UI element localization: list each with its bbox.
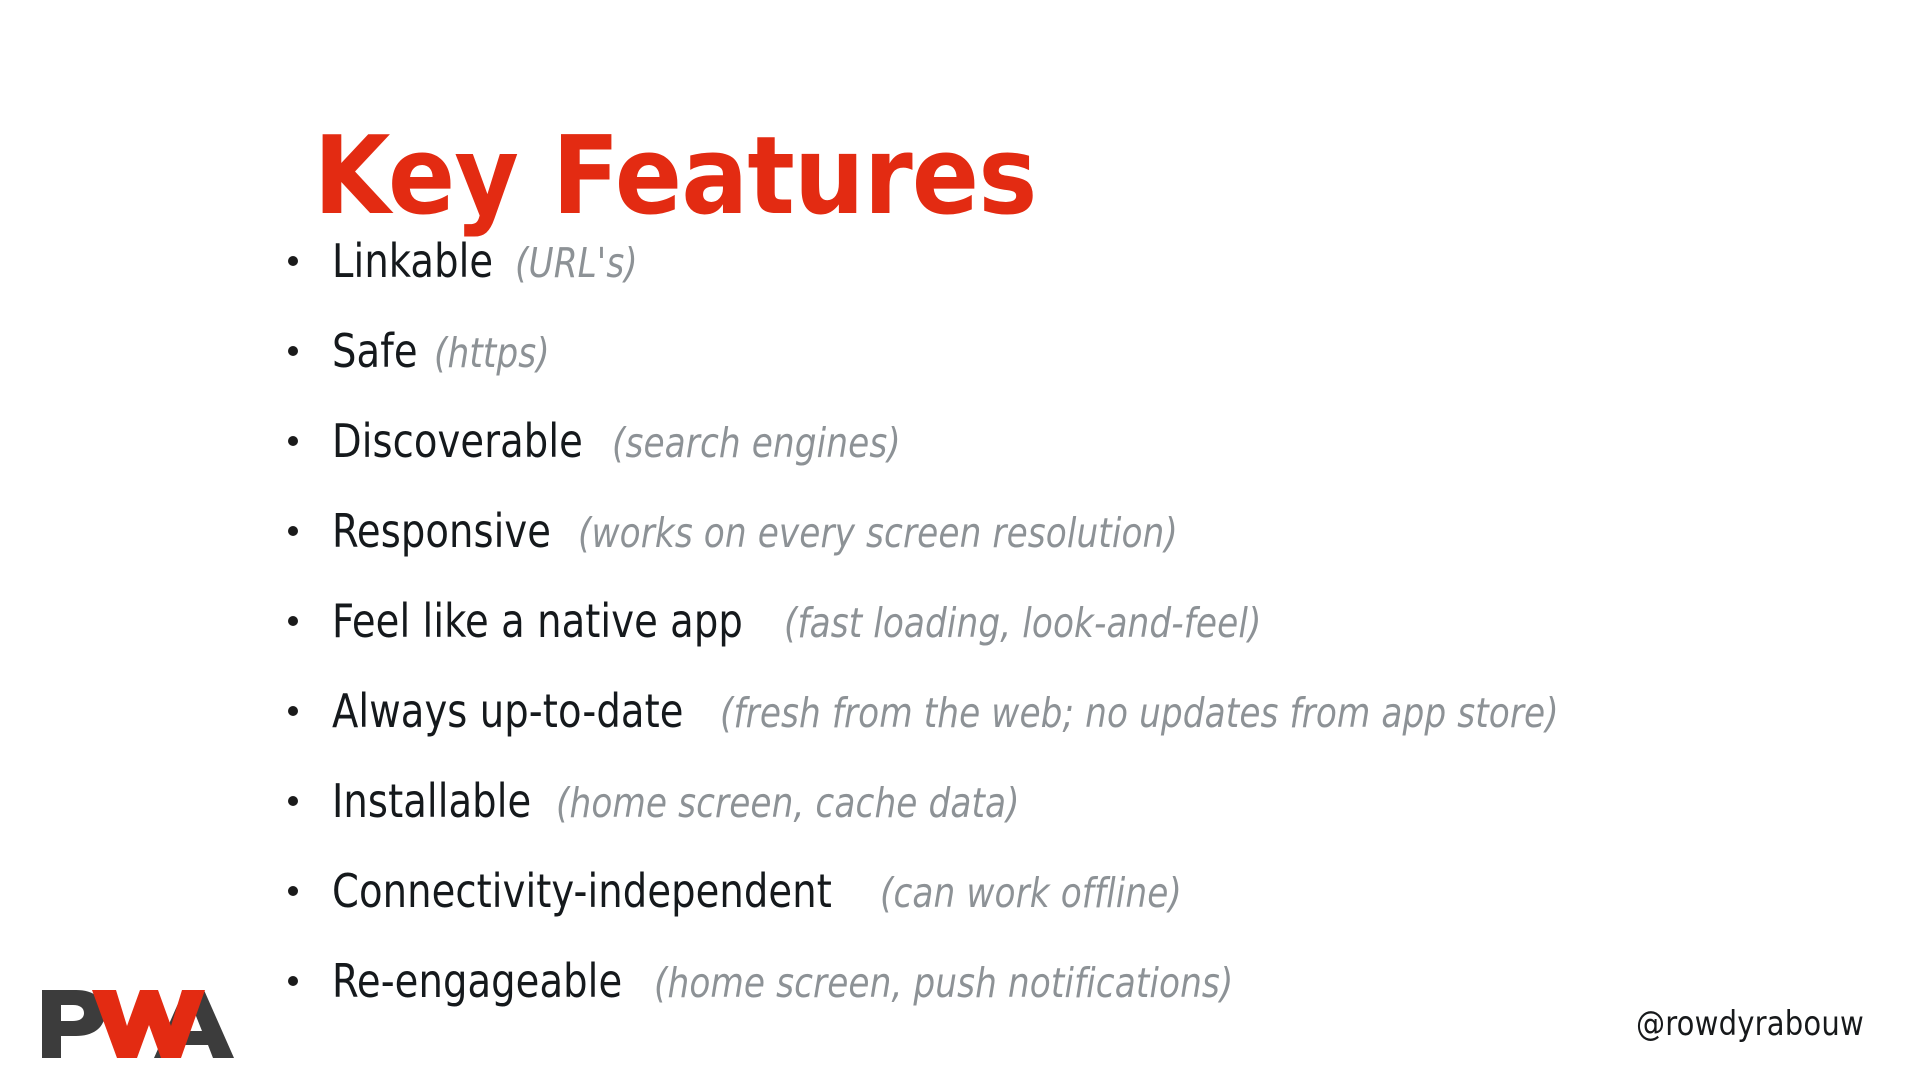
slide-canvas: Key Features Linkable (URL's) Safe (http… — [0, 0, 1920, 1080]
feature-term: Connectivity-independent — [332, 846, 832, 936]
bullet-icon — [288, 976, 298, 986]
feature-note: (https) — [434, 308, 550, 398]
bullet-icon — [288, 616, 298, 626]
feature-term: Linkable — [332, 216, 493, 306]
feature-note: (search engines) — [612, 398, 901, 488]
list-item: Always up-to-date (fresh from the web; n… — [288, 666, 1848, 756]
list-item: Responsive (works on every screen resolu… — [288, 486, 1848, 576]
feature-term: Re-engageable — [332, 936, 622, 1026]
feature-term: Feel like a native app — [332, 576, 743, 666]
bullet-icon — [288, 796, 298, 806]
list-item: Discoverable (search engines) — [288, 396, 1848, 486]
feature-list: Linkable (URL's) Safe (https) Discoverab… — [288, 216, 1848, 1026]
list-item: Safe (https) — [288, 306, 1848, 396]
list-item: Installable (home screen, cache data) — [288, 756, 1848, 846]
list-item: Connectivity-independent (can work offli… — [288, 846, 1848, 936]
feature-note: (home screen, cache data) — [556, 758, 1020, 848]
author-handle: @rowdyrabouw — [1636, 1004, 1864, 1044]
bullet-icon — [288, 706, 298, 716]
feature-note: (fresh from the web; no updates from app… — [720, 668, 1559, 758]
feature-note: (home screen, push notifications) — [654, 938, 1233, 1028]
feature-term: Installable — [332, 756, 531, 846]
feature-note: (works on every screen resolution) — [578, 488, 1178, 578]
list-item: Linkable (URL's) — [288, 216, 1848, 306]
bullet-icon — [288, 436, 298, 446]
bullet-icon — [288, 256, 298, 266]
feature-note: (can work offline) — [880, 848, 1182, 938]
bullet-icon — [288, 886, 298, 896]
feature-term: Always up-to-date — [332, 666, 684, 756]
feature-term: Safe — [332, 306, 418, 396]
list-item: Feel like a native app (fast loading, lo… — [288, 576, 1848, 666]
bullet-icon — [288, 526, 298, 536]
bullet-icon — [288, 346, 298, 356]
list-item: Re-engageable (home screen, push notific… — [288, 936, 1848, 1026]
feature-note: (fast loading, look-and-feel) — [784, 578, 1261, 668]
feature-term: Discoverable — [332, 396, 583, 486]
feature-note: (URL's) — [515, 218, 638, 308]
pwa-logo-icon — [34, 984, 234, 1062]
feature-term: Responsive — [332, 486, 551, 576]
